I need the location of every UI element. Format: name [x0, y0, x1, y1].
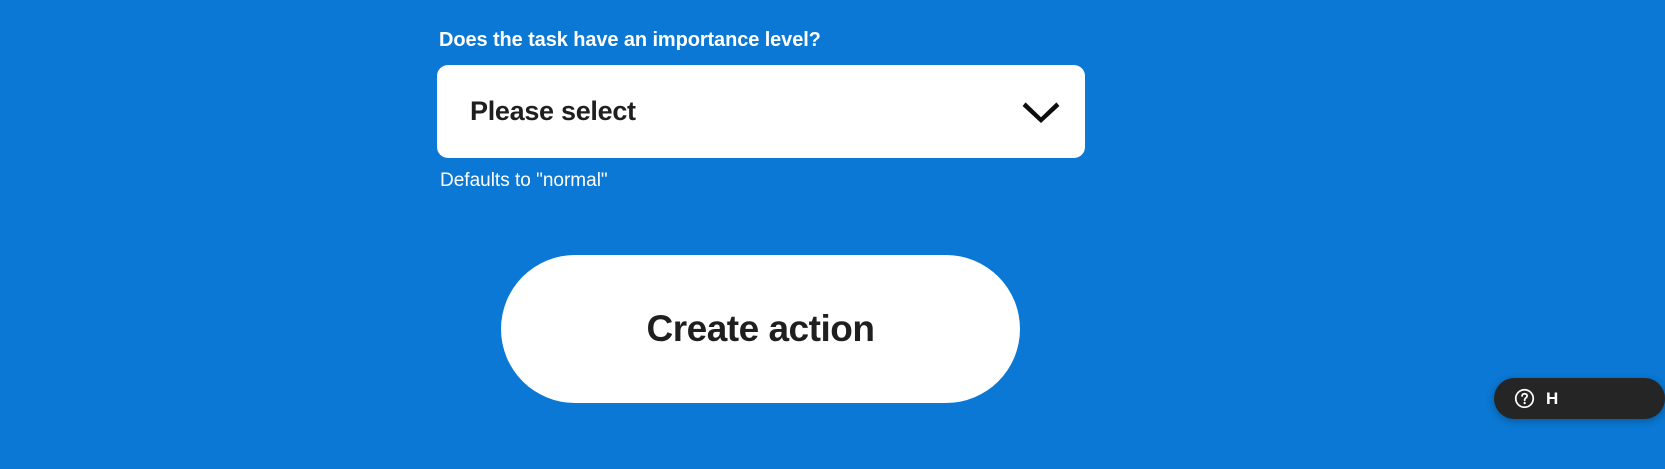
help-launcher[interactable]: H: [1494, 378, 1665, 419]
importance-level-select[interactable]: Please select: [437, 65, 1085, 158]
chevron-down-icon[interactable]: [1019, 90, 1063, 134]
help-launcher-label: H: [1546, 389, 1558, 409]
page-background: Does the task have an importance level? …: [0, 0, 1665, 469]
question-circle-icon: [1514, 388, 1535, 409]
field-hint-default-value: Defaults to "normal": [440, 170, 1085, 192]
importance-level-field: Does the task have an importance level? …: [437, 28, 1085, 192]
select-selected-value: Please select: [470, 65, 636, 158]
field-label-importance-level: Does the task have an importance level?: [439, 28, 1085, 52]
create-action-button[interactable]: Create action: [501, 255, 1020, 403]
